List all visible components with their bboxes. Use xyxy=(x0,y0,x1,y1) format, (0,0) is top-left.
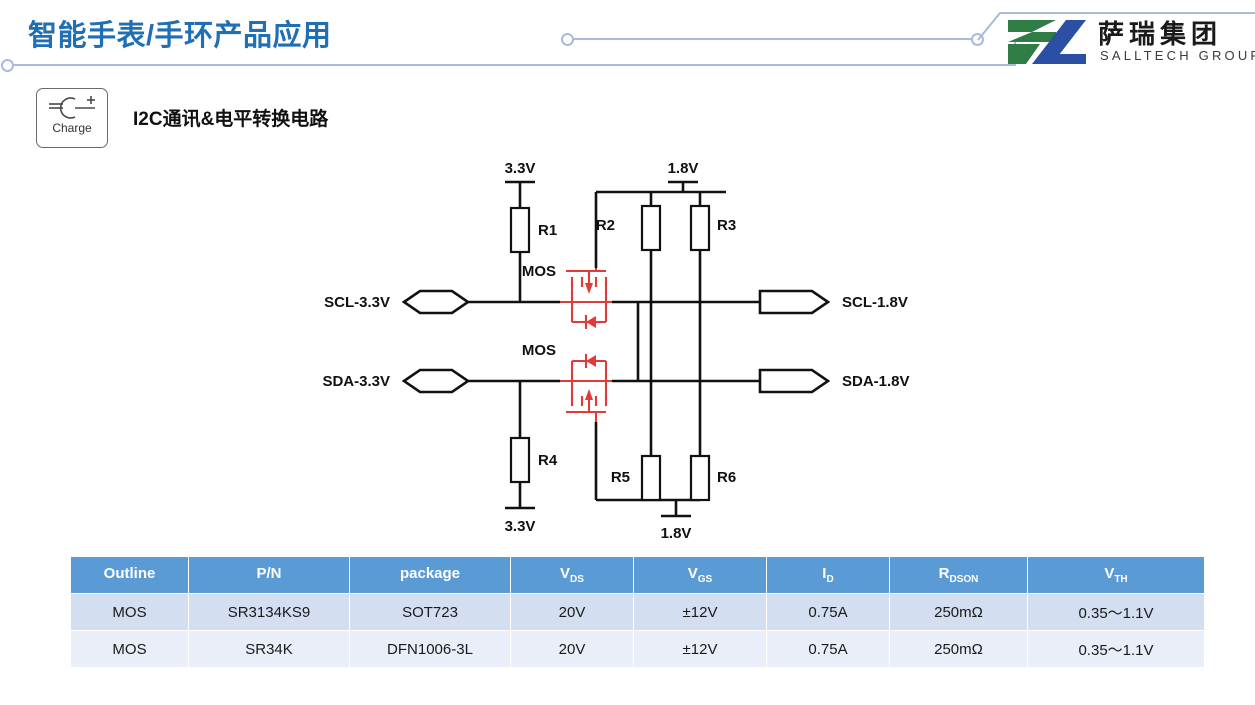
cell-vds: 20V xyxy=(511,631,634,668)
column-header-vgs: VGS xyxy=(634,557,767,594)
mosfet-symbol-upper: MOS xyxy=(522,263,612,329)
device-label-mos-lower: MOS xyxy=(522,342,556,359)
port-shape-sda-1v8 xyxy=(760,370,828,392)
column-header-rdson: RDSON xyxy=(890,557,1028,594)
cell-pn: SR34K xyxy=(189,631,350,668)
charge-badge-label: Charge xyxy=(37,121,107,135)
cell-id: 0.75A xyxy=(767,594,890,631)
port-label-scl-3v3: SCL-3.3V xyxy=(324,294,390,311)
circuit-schematic: .w {stroke:#111;stroke-width:2.6;fill:no… xyxy=(0,150,1000,540)
device-label-mos-upper: MOS xyxy=(522,263,556,280)
logo-mark-icon xyxy=(1006,18,1088,66)
table-header-row: Outline P/N package VDS VGS ID RDSON VTH xyxy=(71,557,1205,594)
resistor-label-r1: R1 xyxy=(538,222,557,239)
page-title: 智能手表/手环产品应用 xyxy=(28,12,332,54)
cell-outline: MOS xyxy=(71,594,189,631)
rail-label-3v3-bottom: 3.3V xyxy=(505,518,536,535)
table-row: MOS SR3134KS9 SOT723 20V ±12V 0.75A 250m… xyxy=(71,594,1205,631)
cell-vgs: ±12V xyxy=(634,594,767,631)
cell-vgs: ±12V xyxy=(634,631,767,668)
column-header-outline: Outline xyxy=(71,557,189,594)
resistor-label-r4: R4 xyxy=(538,452,558,469)
charge-badge[interactable]: Charge xyxy=(36,88,108,148)
page-header: 智能手表/手环产品应用 萨瑞集团 SALLTECH GROUP xyxy=(0,0,1255,90)
header-rule-upper-dot-left xyxy=(561,33,574,46)
column-header-vth: VTH xyxy=(1028,557,1205,594)
cell-id: 0.75A xyxy=(767,631,890,668)
cell-package: SOT723 xyxy=(350,594,511,631)
header-rule-upper xyxy=(568,38,978,40)
column-header-id: ID xyxy=(767,557,890,594)
cell-package: DFN1006-3L xyxy=(350,631,511,668)
header-rule-lower xyxy=(7,64,1015,66)
cell-rdson: 250mΩ xyxy=(890,594,1028,631)
rail-label-3v3-top: 3.3V xyxy=(505,160,536,177)
resistor-label-r3: R3 xyxy=(717,217,736,234)
port-label-sda-3v3: SDA-3.3V xyxy=(322,373,390,390)
rail-label-1v8-bottom: 1.8V xyxy=(661,525,692,540)
logo-name-en: SALLTECH GROUP xyxy=(1100,48,1255,63)
port-shape-sda-3v3 xyxy=(404,370,468,392)
column-header-package: package xyxy=(350,557,511,594)
logo-name-cn: 萨瑞集团 xyxy=(1098,14,1222,51)
column-header-vds: VDS xyxy=(511,557,634,594)
header-rule-lower-dot xyxy=(1,59,14,72)
table-row: MOS SR34K DFN1006-3L 20V ±12V 0.75A 250m… xyxy=(71,631,1205,668)
cell-pn: SR3134KS9 xyxy=(189,594,350,631)
cell-vds: 20V xyxy=(511,594,634,631)
resistor-label-r5: R5 xyxy=(611,469,630,486)
cell-vth: 0.35～1.1V xyxy=(1028,631,1205,668)
cell-rdson: 250mΩ xyxy=(890,631,1028,668)
cell-outline: MOS xyxy=(71,631,189,668)
rail-label-1v8-top: 1.8V xyxy=(668,160,699,177)
port-label-sda-1v8: SDA-1.8V xyxy=(842,373,910,390)
company-logo: 萨瑞集团 SALLTECH GROUP xyxy=(1006,12,1246,76)
port-shape-scl-1v8 xyxy=(760,291,828,313)
cell-vth: 0.35～1.1V xyxy=(1028,594,1205,631)
resistor-label-r6: R6 xyxy=(717,469,736,486)
port-label-scl-1v8: SCL-1.8V xyxy=(842,294,908,311)
section-title: I2C通讯&电平转换电路 xyxy=(133,104,328,131)
spec-table: Outline P/N package VDS VGS ID RDSON VTH… xyxy=(70,556,1205,668)
column-header-pn: P/N xyxy=(189,557,350,594)
battery-charge-icon xyxy=(37,95,107,121)
port-shape-scl-3v3 xyxy=(404,291,468,313)
resistor-label-r2: R2 xyxy=(596,217,615,234)
